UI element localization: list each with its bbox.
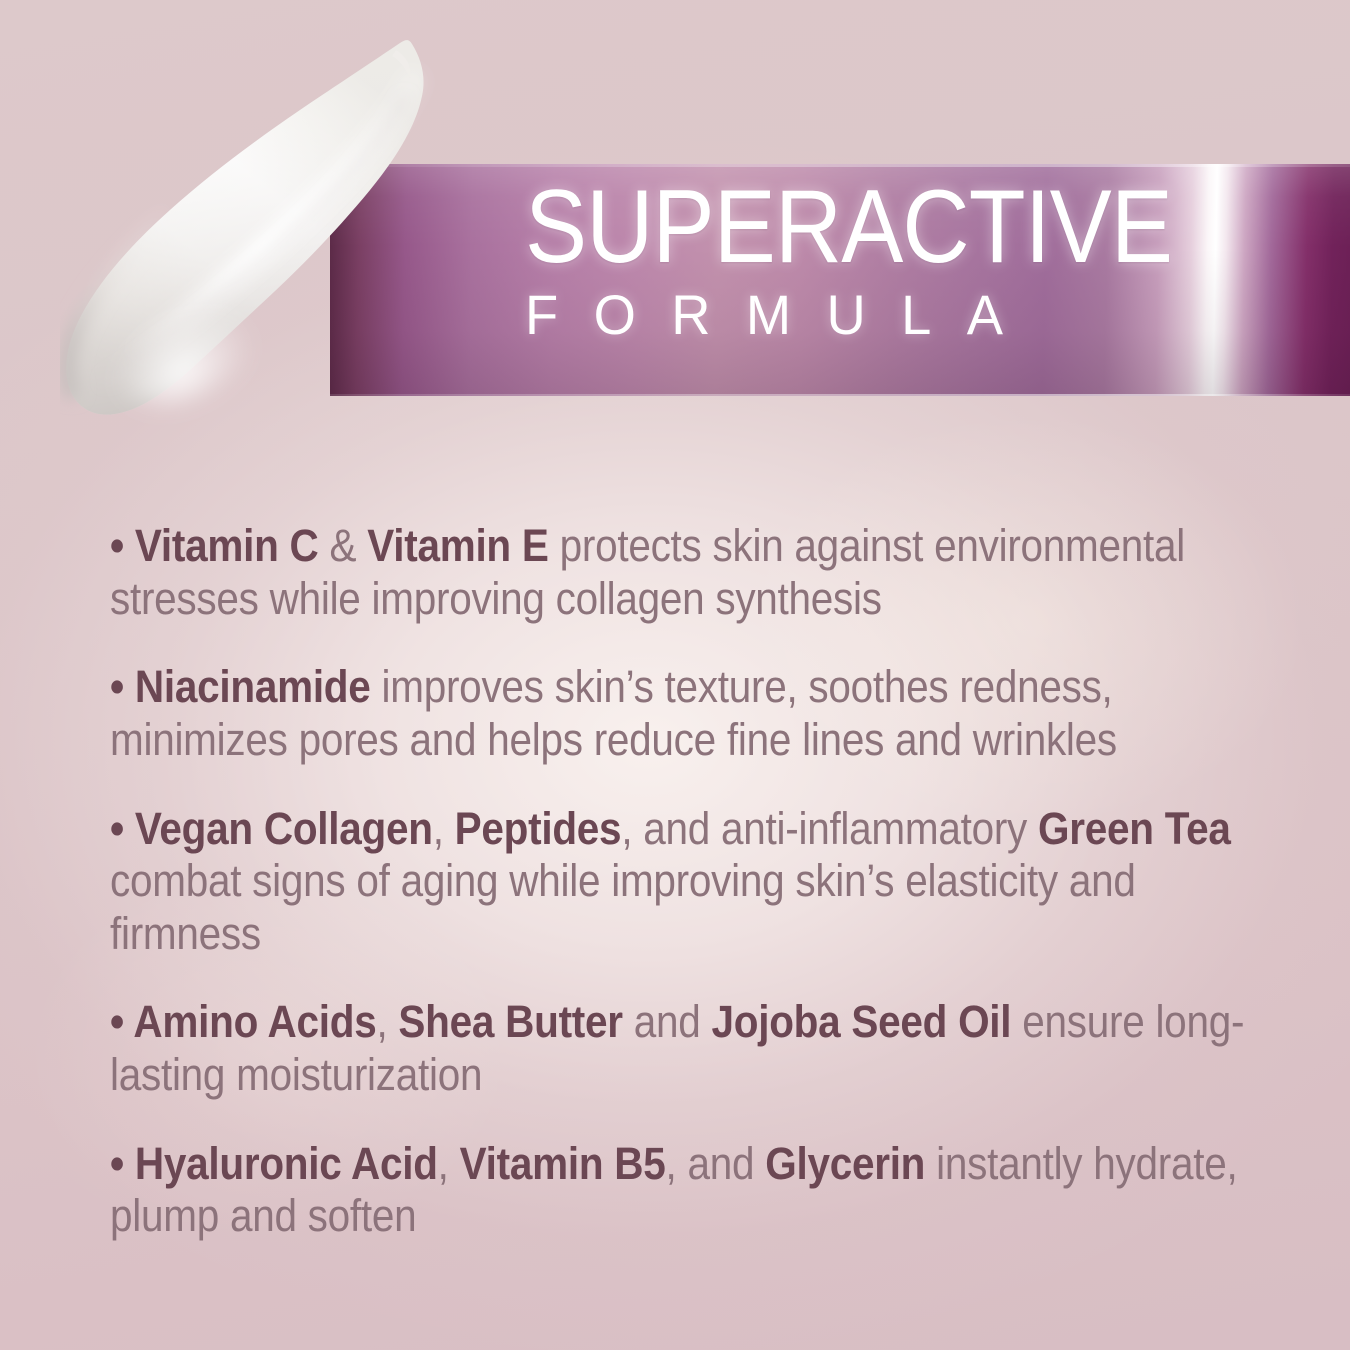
banner-title-formula: FORMULA [525, 284, 1325, 347]
ingredient-description: , and [666, 1138, 766, 1189]
ingredient-name: Green Tea [1038, 803, 1231, 854]
ingredient-description: , [433, 803, 455, 854]
bullet-marker: • [110, 661, 135, 712]
ingredient-name: Peptides [455, 803, 622, 854]
ingredient-name: Shea Butter [398, 996, 622, 1047]
banner-top-edge [330, 164, 1350, 167]
banner-title-superactive: SUPERACTIVE [525, 178, 1263, 278]
bullet-item-hyaluronic-acid: • Hyaluronic Acid, Vitamin B5, and Glyce… [110, 1138, 1289, 1243]
ingredient-bullet-list: • Vitamin C & Vitamin E protects skin ag… [110, 520, 1290, 1243]
bullet-marker: • [110, 803, 135, 854]
ingredient-name: Amino Acids [133, 996, 376, 1047]
ingredient-name: Vitamin B5 [460, 1138, 666, 1189]
bullet-marker: • [110, 1138, 135, 1189]
ingredient-name: Vitamin E [367, 520, 548, 571]
product-infographic: SUPERACTIVE FORMULA [0, 0, 1350, 1350]
ingredient-description: , [438, 1138, 460, 1189]
ingredient-description: combat signs of aging while improving sk… [110, 855, 1136, 959]
ingredient-description: & [319, 520, 368, 571]
ingredient-description: , [376, 996, 398, 1047]
superactive-formula-banner: SUPERACTIVE FORMULA [330, 164, 1350, 396]
bullet-marker: • [110, 996, 133, 1047]
ingredient-description: and [623, 996, 712, 1047]
ingredient-description: , and anti-inflammatory [621, 803, 1038, 854]
ingredient-name: Vegan Collagen [135, 803, 433, 854]
bullet-item-vitamin-c-e: • Vitamin C & Vitamin E protects skin ag… [110, 520, 1289, 625]
cream-swatch-icon [60, 30, 480, 470]
bullet-item-niacinamide: • Niacinamide improves skin’s texture, s… [110, 661, 1289, 766]
banner-text-block: SUPERACTIVE FORMULA [525, 178, 1350, 347]
bullet-item-amino-acids: • Amino Acids, Shea Butter and Jojoba Se… [110, 996, 1289, 1101]
bullet-marker: • [110, 520, 135, 571]
bullet-item-vegan-collagen: • Vegan Collagen, Peptides, and anti-inf… [110, 803, 1289, 961]
ingredient-name: Hyaluronic Acid [135, 1138, 438, 1189]
banner-bottom-edge [330, 394, 1350, 396]
ingredient-name: Jojoba Seed Oil [711, 996, 1011, 1047]
ingredient-name: Niacinamide [135, 661, 371, 712]
ingredient-name: Glycerin [765, 1138, 925, 1189]
ingredient-name: Vitamin C [135, 520, 319, 571]
